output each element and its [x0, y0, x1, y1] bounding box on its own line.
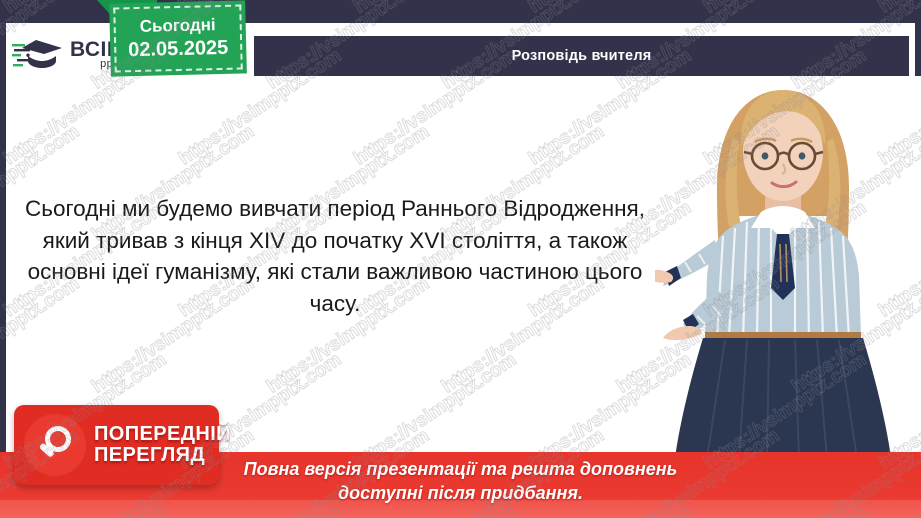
- presenter-photo: [655, 76, 921, 458]
- slide-header-bar: Розповідь вчителя: [254, 36, 909, 76]
- purchase-notice-text: Повна версія презентації та решта доповн…: [244, 458, 678, 506]
- magnifier-icon: [24, 414, 86, 476]
- preview-badge-line1: ПОПЕРЕДНІЙ: [94, 423, 231, 445]
- slide-header-title: Розповідь вчителя: [512, 48, 652, 64]
- date-badge-value: 02.05.2025: [128, 35, 229, 62]
- presentation-slide: Розповідь вчителя ВСІМ pp: [0, 0, 921, 518]
- date-badge-label: Сьогодні: [139, 14, 215, 37]
- preview-badge[interactable]: ПОПЕРЕДНІЙПЕРЕГЛЯД: [14, 405, 219, 485]
- graduation-cap-icon: [12, 37, 68, 71]
- preview-badge-line2: ПЕРЕГЛЯД: [94, 444, 205, 466]
- purchase-notice-line1: Повна версія презентації та решта доповн…: [244, 459, 678, 479]
- slide-body-text: Сьогодні ми будемо вивчати період Ранньо…: [22, 193, 648, 319]
- date-badge: Сьогодні 02.05.2025: [109, 0, 247, 76]
- preview-badge-label: ПОПЕРЕДНІЙПЕРЕГЛЯД: [94, 424, 231, 466]
- purchase-notice-line2: доступні після придбання.: [338, 483, 583, 503]
